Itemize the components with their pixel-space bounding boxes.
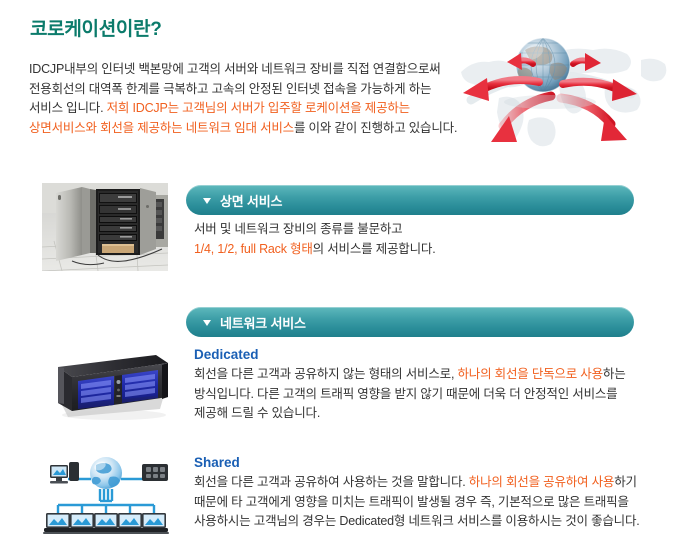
section-header-colocation[interactable]: 상면 서비스 [186, 185, 634, 215]
colocation-info-page: 코로케이션이란? IDCJP내부의 인터넷 백본망에 고객의 서버와 네트워크 … [0, 0, 680, 560]
server-rack-photo [42, 183, 168, 271]
dedicated-line-2: 방식입니다. 다른 고객의 트래픽 영향을 받지 않기 때문에 더욱 더 안정적… [194, 387, 617, 401]
dedicated-line-1-after: 하는 [603, 367, 626, 381]
colocation-line-2-plain: 의 서비스를 제공합니다. [313, 242, 436, 256]
intro-line-4-highlight: 상면서비스와 회선을 제공하는 네트워크 임대 서비스 [29, 121, 294, 135]
intro-line-3-plain: 서비스 입니다. [29, 101, 107, 115]
intro-line-1: IDCJP내부의 인터넷 백본망에 고객의 서버와 네트워크 장비를 직접 연결… [29, 62, 441, 76]
dedicated-line-1-plain: 회선을 다른 고객과 공유하지 않는 형태의 서비스로, [194, 367, 457, 381]
colocation-line-1: 서버 및 네트워크 장비의 종류를 불문하고 [194, 222, 402, 236]
globe-arrows-icon [455, 2, 680, 174]
intro-line-2: 전용회선의 대역폭 한계를 극복하고 고속의 안정된 인터넷 접속을 가능하게 … [29, 82, 431, 96]
hero-section: 코로케이션이란? IDCJP내부의 인터넷 백본망에 고객의 서버와 네트워크 … [0, 0, 680, 175]
dedicated-body-text: 회선을 다른 고객과 공유하지 않는 형태의 서비스로, 하나의 회선을 단독으… [194, 365, 644, 424]
shared-line-2: 때문에 타 고객에게 영향을 미치는 트래픽이 발생될 경우 즉, 기본적으로 … [194, 495, 629, 509]
shared-line-1-after: 하기 [614, 475, 637, 489]
section-header-colocation-label: 상면 서비스 [220, 191, 282, 210]
section-header-network-label: 네트워크 서비스 [220, 313, 306, 332]
dedicated-line-3: 제공해 드릴 수 있습니다. [194, 406, 320, 420]
dedicated-heading: Dedicated [194, 347, 259, 362]
shared-line-1-plain: 회선을 다른 고객과 공유하여 사용하는 것을 말합니다. [194, 475, 469, 489]
rackmount-server-photo [38, 345, 174, 429]
section-header-network[interactable]: 네트워크 서비스 [186, 307, 634, 337]
triangle-down-icon [203, 198, 211, 204]
intro-line-3-highlight: 저희 IDCJP는 고객님의 서버가 입주할 로케이션을 제공하는 [107, 101, 410, 115]
intro-paragraph: IDCJP내부의 인터넷 백본망에 고객의 서버와 네트워크 장비를 직접 연결… [29, 60, 479, 138]
shared-heading: Shared [194, 455, 240, 470]
network-diagram-photo [38, 449, 174, 545]
triangle-down-icon [203, 320, 211, 326]
page-title: 코로케이션이란? [30, 14, 162, 41]
shared-line-3: 사용하시는 고객님의 경우는 Dedicated형 네트워크 서비스를 이용하시… [194, 514, 640, 528]
shared-body-text: 회선을 다른 고객과 공유하여 사용하는 것을 말합니다. 하나의 회선을 공유… [194, 473, 654, 532]
colocation-body-text: 서버 및 네트워크 장비의 종류를 불문하고 1/4, 1/2, full Ra… [194, 220, 634, 259]
shared-line-1-highlight: 하나의 회선을 공유하여 사용 [469, 475, 614, 489]
dedicated-line-1-highlight: 하나의 회선을 단독으로 사용 [457, 367, 602, 381]
intro-line-4-plain: 를 이와 같이 진행하고 있습니다. [294, 121, 457, 135]
colocation-line-2-highlight: 1/4, 1/2, full Rack 형태 [194, 242, 313, 256]
